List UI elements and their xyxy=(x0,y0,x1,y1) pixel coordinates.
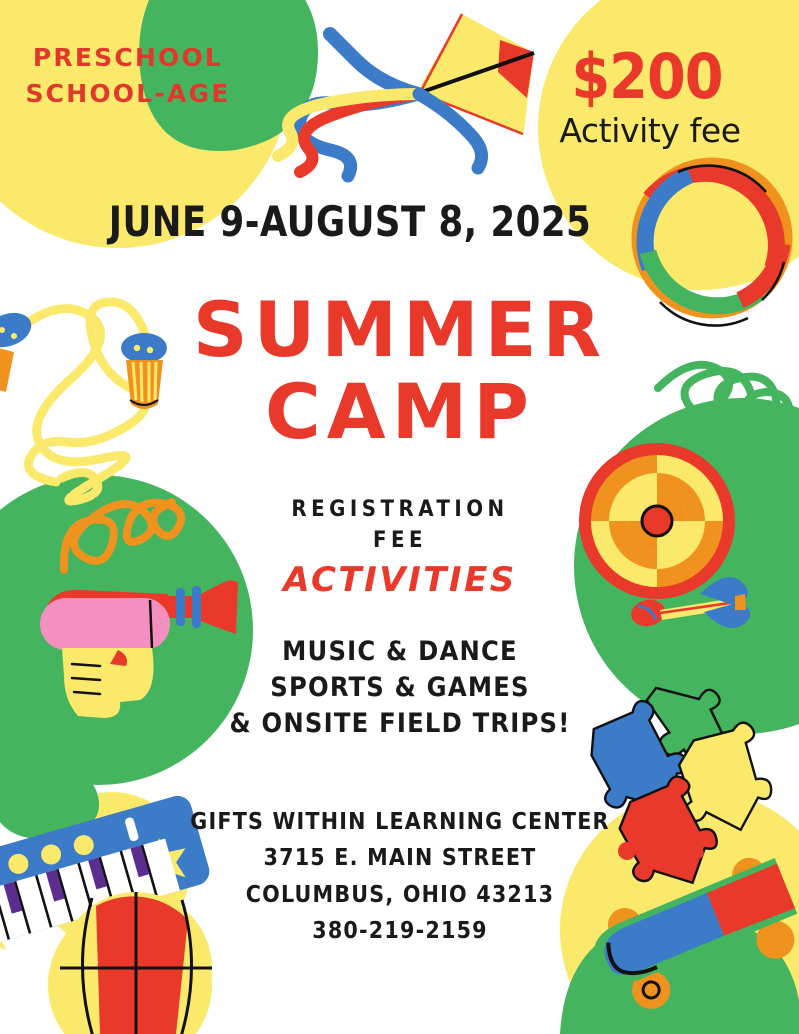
page-title-line1: SUMMER xyxy=(170,290,630,371)
price-amount: $200 xyxy=(552,46,742,108)
camp-dates: JUNE 9-AUGUST 8, 2025 xyxy=(77,200,622,245)
price-label: Activity fee xyxy=(540,114,760,149)
audience-label: PRESCHOOL SCHOOL-AGE xyxy=(10,40,246,111)
page-title-line2: CAMP xyxy=(170,372,630,453)
program-list: MUSIC & DANCE SPORTS & GAMES & ONSITE FI… xyxy=(170,634,630,742)
summer-camp-flyer: PRESCHOOL SCHOOL-AGE $200 Activity fee J… xyxy=(0,0,799,1034)
contact-block: GIFTS WITHIN LEARNING CENTER 3715 E. MAI… xyxy=(150,804,650,949)
registration-fee-label: REGISTRATION FEE xyxy=(200,494,600,556)
activities-heading: ACTIVITIES xyxy=(200,562,600,598)
